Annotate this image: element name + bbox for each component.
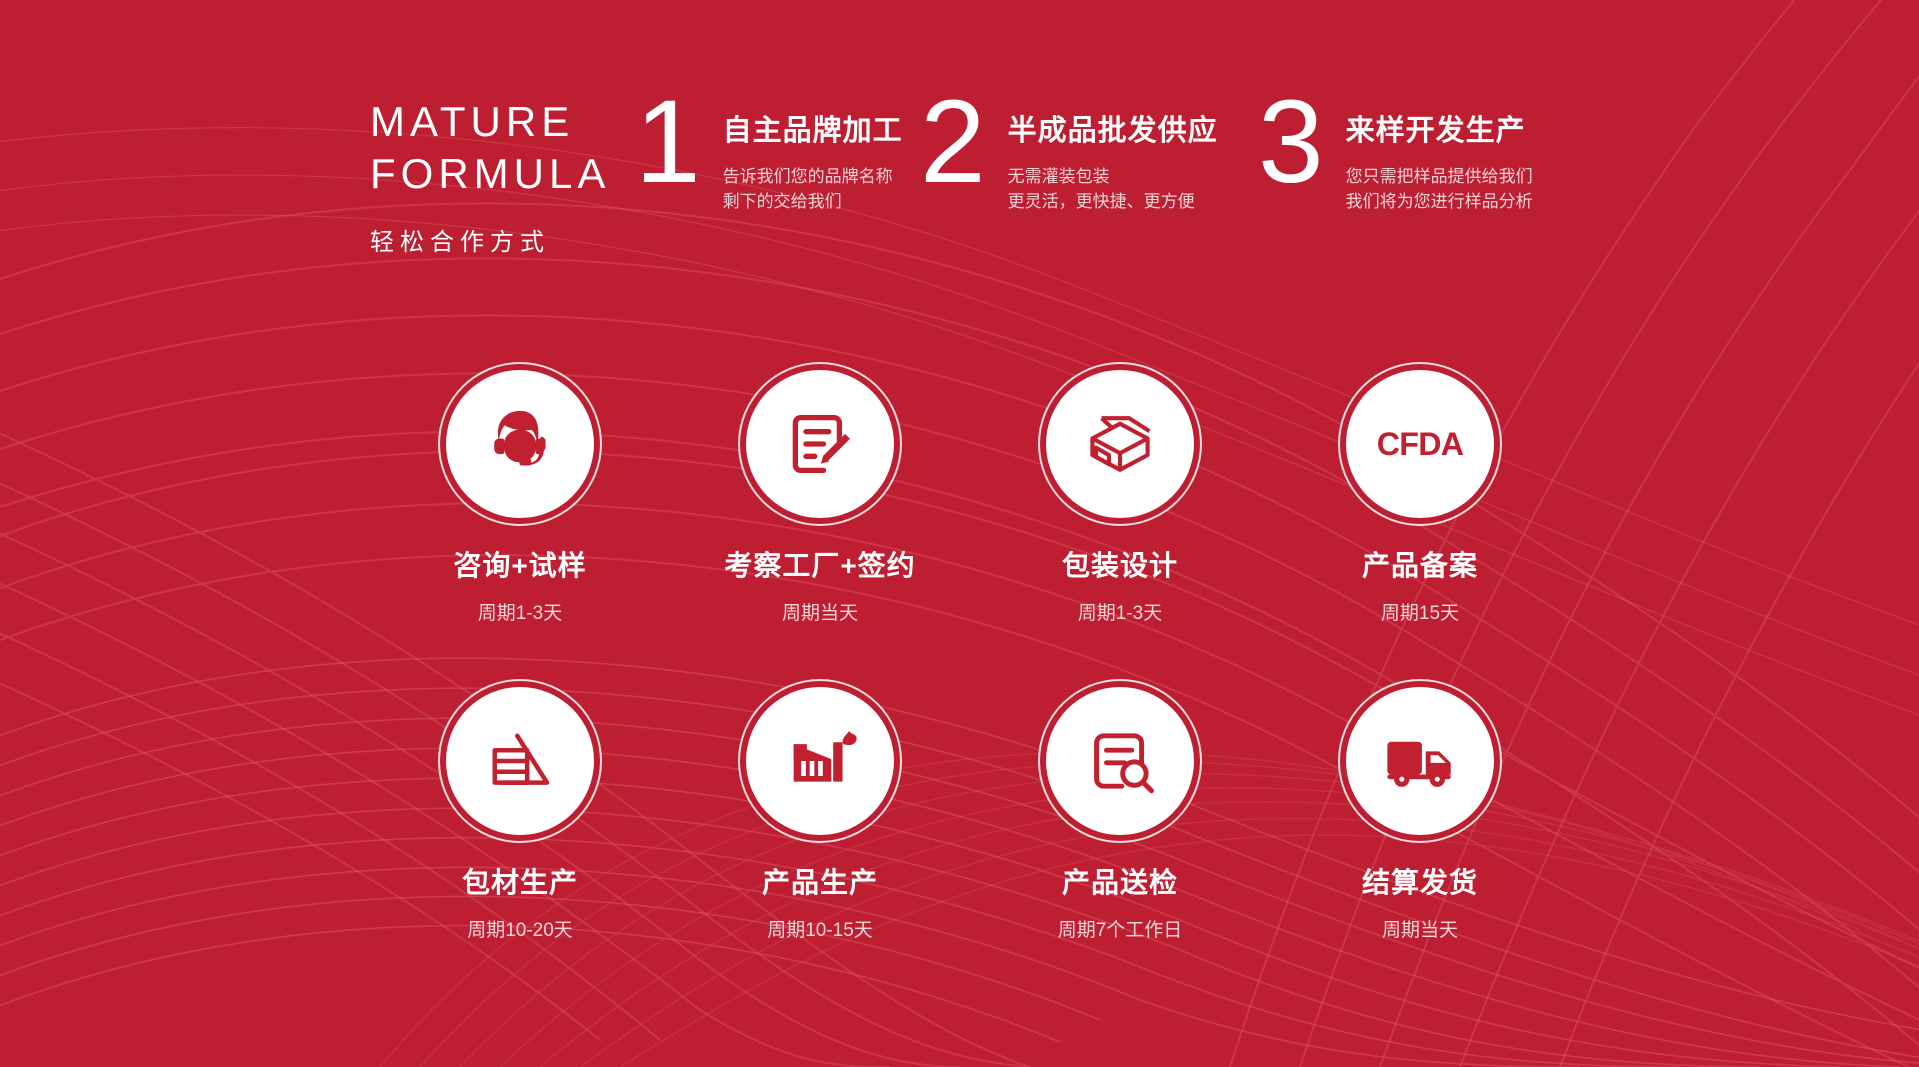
open-box-icon: [1074, 398, 1166, 490]
process-title: 包材生产: [462, 861, 578, 901]
headset-operator-icon: [474, 398, 566, 490]
document-pen-badge: [746, 370, 894, 518]
step-desc-3-line-2: 我们将为您进行样品分析: [1346, 189, 1533, 214]
process-sub: 周期15天: [1381, 598, 1459, 625]
brand-line-1: MATURE: [370, 96, 610, 148]
process-sub: 周期10-20天: [467, 915, 573, 942]
document-search-badge: [1046, 687, 1194, 835]
process-row-1: 咨询+试样 周期1-3天 考察工厂: [370, 370, 1919, 625]
process-sub: 周期当天: [782, 598, 858, 625]
step-number-3: 3: [1258, 88, 1324, 196]
document-search-icon: [1075, 716, 1165, 806]
step-desc-2-line-2: 更灵活，更快捷、更方便: [1008, 189, 1218, 214]
step-item-2: 2 半成品批发供应 无需灌装包装 更灵活，更快捷、更方便: [920, 96, 1218, 214]
step-desc-1-line-2: 剩下的交给我们: [723, 189, 903, 214]
packaging-material-icon: [475, 716, 565, 806]
process-sub: 周期7个工作日: [1058, 915, 1183, 942]
process-item-factory-visit-contract: 考察工厂+签约 周期当天: [670, 370, 970, 625]
step-number-2: 2: [920, 88, 986, 196]
header-section: MATURE FORMULA 轻松合作方式 1 自主品牌加工 告诉我们您的品牌名…: [0, 96, 1919, 286]
brand-subtitle: 轻松合作方式: [370, 222, 610, 257]
delivery-truck-badge: [1346, 687, 1494, 835]
process-title: 咨询+试样: [453, 544, 586, 584]
process-sub: 周期1-3天: [478, 598, 562, 625]
step-title-3: 来样开发生产: [1346, 114, 1533, 148]
step-desc-1-line-1: 告诉我们您的品牌名称: [723, 164, 903, 189]
headset-operator-badge: [446, 370, 594, 518]
process-grid: 咨询+试样 周期1-3天 考察工厂: [0, 370, 1919, 942]
process-sub: 周期1-3天: [1078, 598, 1162, 625]
step-item-1: 1 自主品牌加工 告诉我们您的品牌名称 剩下的交给我们: [635, 96, 903, 214]
packaging-material-badge: [446, 687, 594, 835]
process-sub: 周期10-15天: [767, 915, 873, 942]
cfda-text: CFDA: [1377, 426, 1464, 462]
brand-block: MATURE FORMULA 轻松合作方式: [370, 96, 610, 257]
document-pen-icon: [776, 400, 864, 488]
step-desc-3: 您只需把样品提供给我们 我们将为您进行样品分析: [1346, 164, 1533, 214]
step-item-3: 3 来样开发生产 您只需把样品提供给我们 我们将为您进行样品分析: [1258, 96, 1533, 214]
process-item-packaging-material: 包材生产 周期10-20天: [370, 687, 670, 942]
factory-badge: [746, 687, 894, 835]
cfda-logo-icon: CFDA: [1364, 419, 1476, 469]
process-item-production: 产品生产 周期10-15天: [670, 687, 970, 942]
process-item-settlement-delivery: 结算发货 周期当天: [1270, 687, 1570, 942]
step-title-2: 半成品批发供应: [1008, 114, 1218, 148]
open-box-badge: [1046, 370, 1194, 518]
poster-canvas: MATURE FORMULA 轻松合作方式 1 自主品牌加工 告诉我们您的品牌名…: [0, 0, 1919, 1067]
delivery-truck-icon: [1372, 713, 1468, 809]
process-title: 包装设计: [1062, 544, 1178, 584]
factory-icon: [773, 714, 867, 808]
step-desc-1: 告诉我们您的品牌名称 剩下的交给我们: [723, 164, 903, 214]
step-number-1: 1: [635, 88, 701, 196]
process-title: 结算发货: [1362, 861, 1478, 901]
step-desc-2: 无需灌装包装 更灵活，更快捷、更方便: [1008, 164, 1218, 214]
process-title: 产品送检: [1062, 861, 1178, 901]
process-title: 考察工厂+签约: [724, 544, 915, 584]
process-row-2: 包材生产 周期10-20天: [370, 687, 1919, 942]
process-item-product-filing: CFDA 产品备案 周期15天: [1270, 370, 1570, 625]
process-sub: 周期当天: [1382, 915, 1458, 942]
step-desc-2-line-1: 无需灌装包装: [1008, 164, 1218, 189]
process-item-consult-sample: 咨询+试样 周期1-3天: [370, 370, 670, 625]
process-title: 产品生产: [762, 861, 878, 901]
process-title: 产品备案: [1362, 544, 1478, 584]
cfda-logo-badge: CFDA: [1346, 370, 1494, 518]
process-item-inspection: 产品送检 周期7个工作日: [970, 687, 1270, 942]
brand-line-2: FORMULA: [370, 148, 610, 200]
step-desc-3-line-1: 您只需把样品提供给我们: [1346, 164, 1533, 189]
step-title-1: 自主品牌加工: [723, 114, 903, 148]
process-item-package-design: 包装设计 周期1-3天: [970, 370, 1270, 625]
